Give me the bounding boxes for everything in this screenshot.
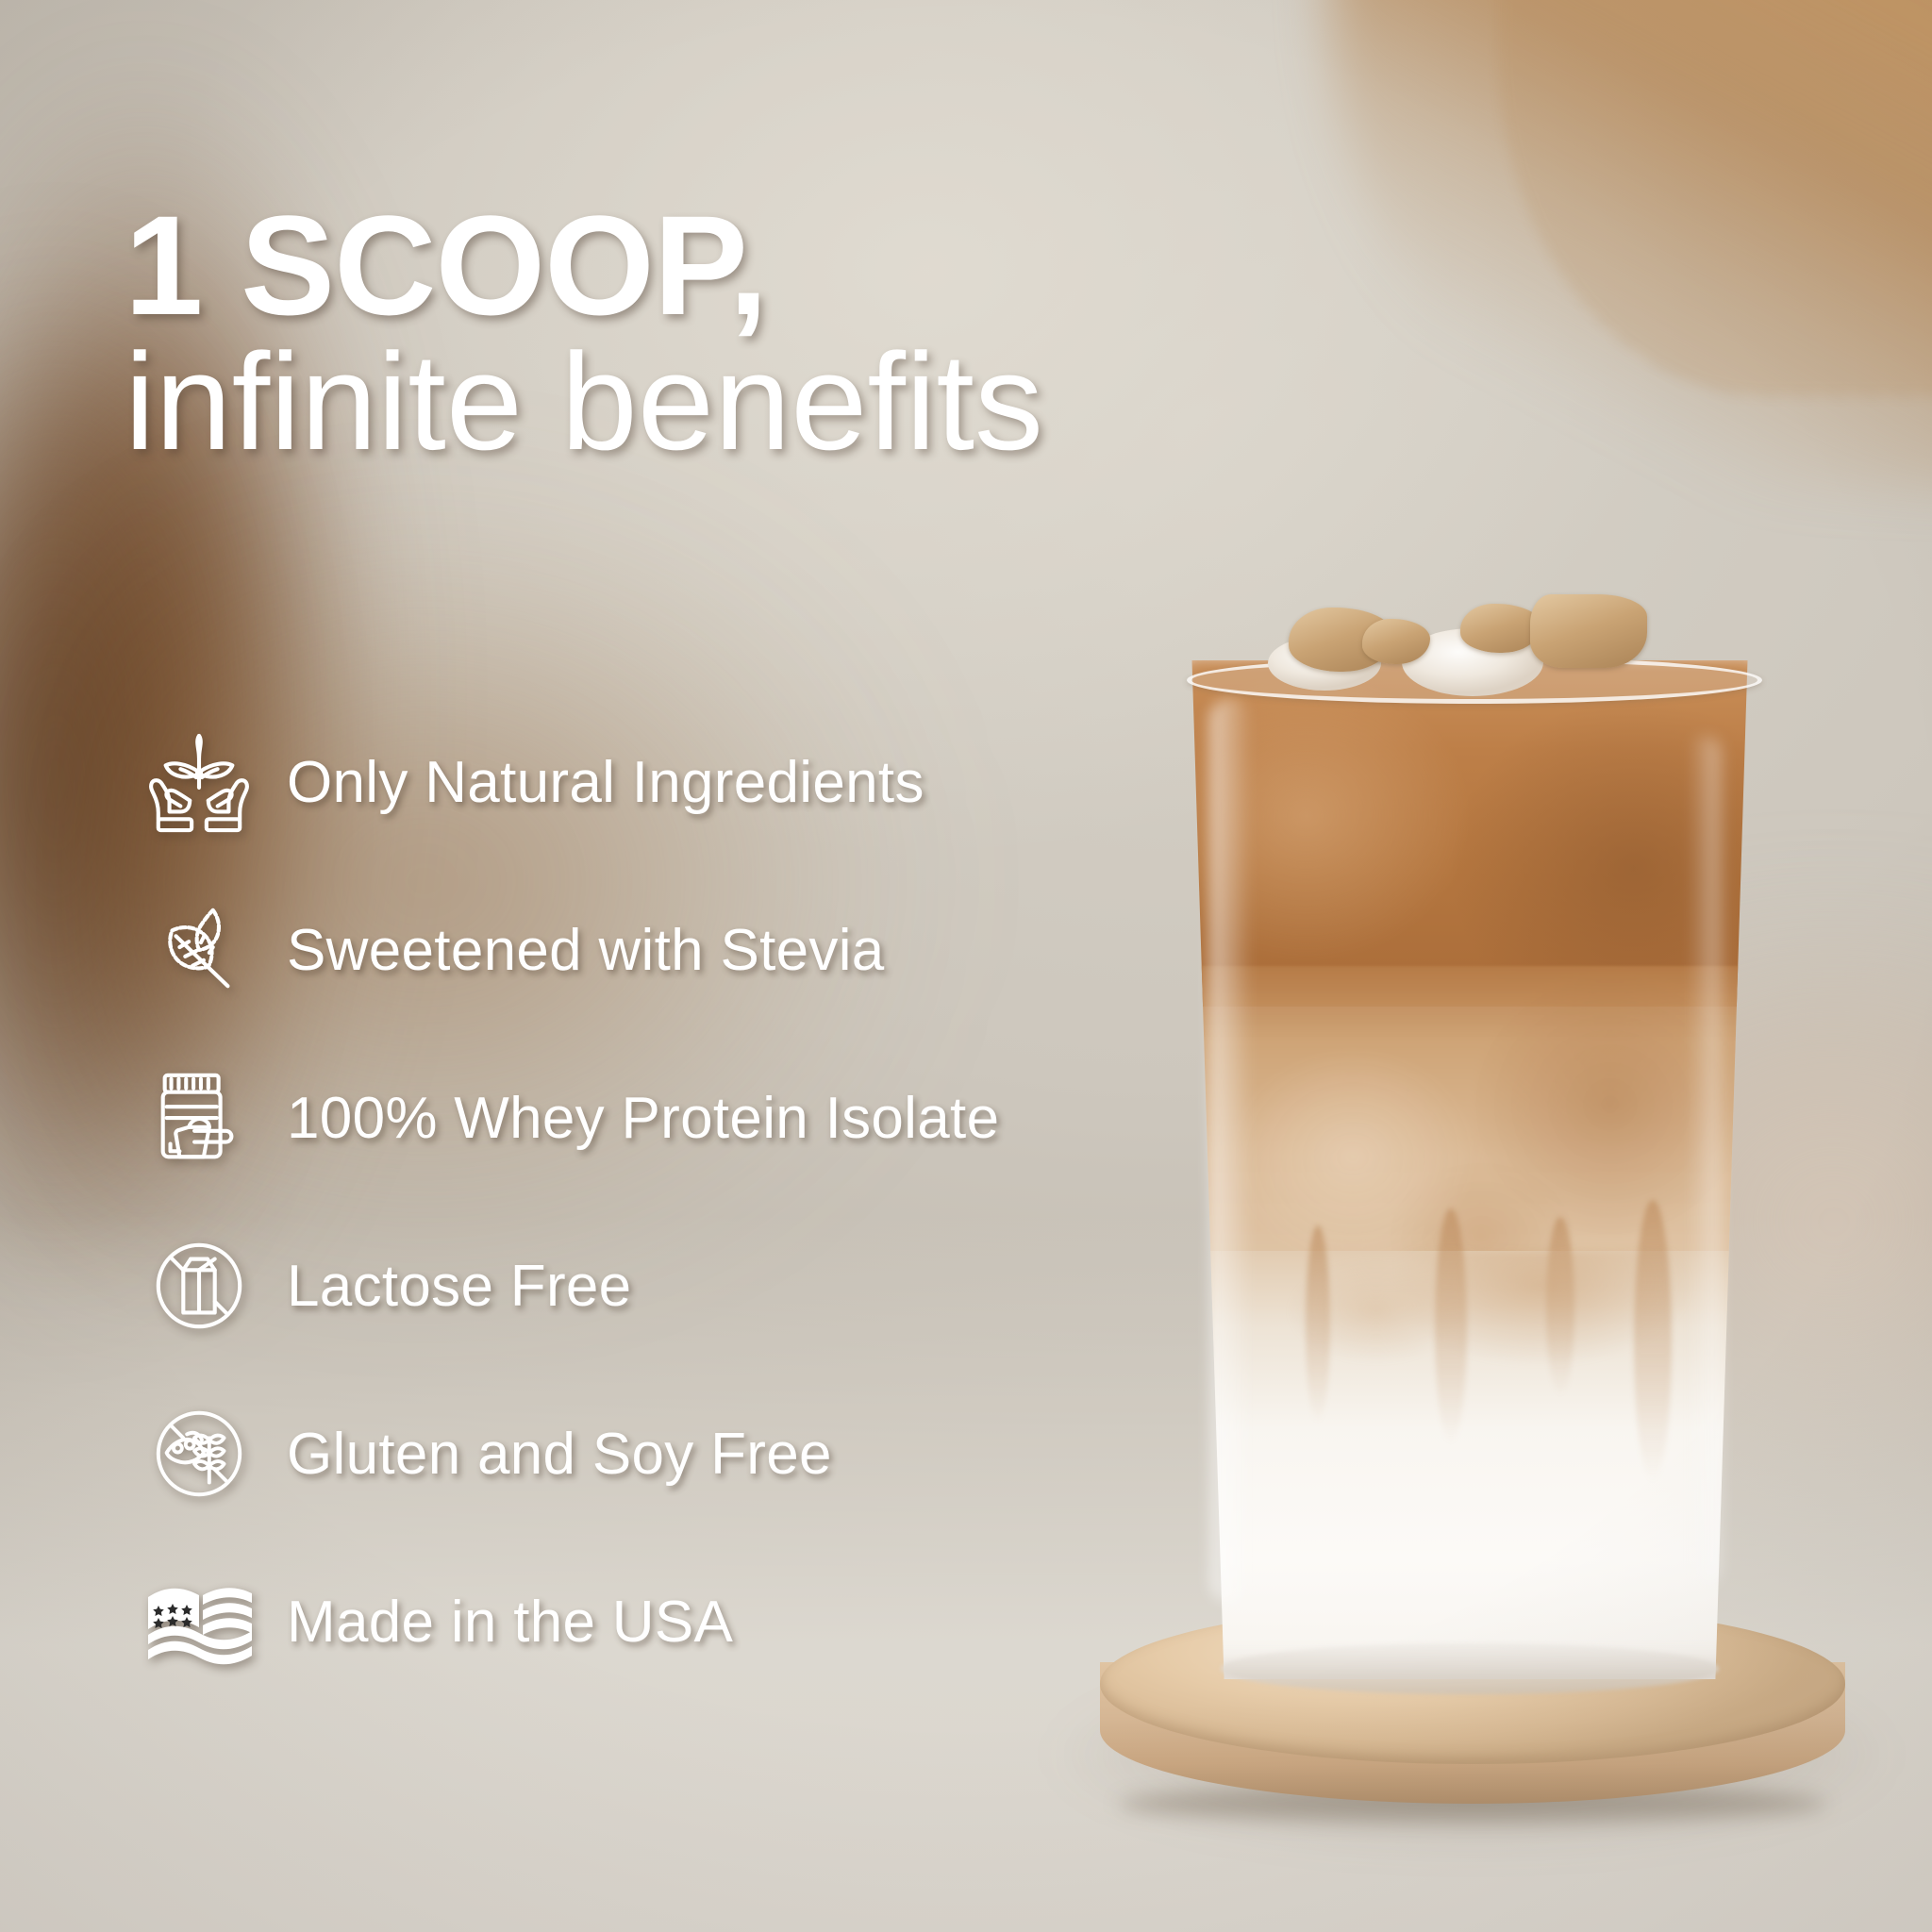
- headline: 1 SCOOP, infinite benefits: [125, 194, 1445, 474]
- benefit-item-made-in-usa: Made in the USA: [128, 1538, 1194, 1706]
- usa-flag-icon: [128, 1559, 270, 1684]
- product-benefits-poster: 1 SCOOP, infinite benefits: [0, 0, 1932, 1932]
- stevia-leaf-icon: [128, 888, 270, 1012]
- benefits-list: Only Natural Ingredients Sweetened with …: [128, 698, 1194, 1706]
- cookie-crumble: [1530, 594, 1647, 668]
- headline-line-1: 1 SCOOP,: [125, 194, 1445, 336]
- benefit-item-whey-isolate: 100% Whey Protein Isolate: [128, 1034, 1194, 1202]
- no-milk-carton-icon: [128, 1224, 270, 1348]
- drink-glass: [1177, 660, 1762, 1679]
- benefit-label: 100% Whey Protein Isolate: [287, 1085, 999, 1152]
- no-gluten-soy-icon: [128, 1391, 270, 1516]
- benefit-label: Lactose Free: [287, 1253, 631, 1320]
- benefit-label: Sweetened with Stevia: [287, 917, 885, 984]
- glass-base: [1221, 1643, 1719, 1694]
- hands-holding-plant-icon: [128, 720, 270, 844]
- benefit-item-natural-ingredients: Only Natural Ingredients: [128, 698, 1194, 866]
- glass-left-gloss: [1209, 698, 1253, 1604]
- benefit-item-gluten-soy-free: Gluten and Soy Free: [128, 1370, 1194, 1538]
- benefit-label: Only Natural Ingredients: [287, 749, 924, 816]
- benefit-item-stevia: Sweetened with Stevia: [128, 866, 1194, 1034]
- benefit-item-lactose-free: Lactose Free: [128, 1202, 1194, 1370]
- glass-right-gloss: [1689, 736, 1721, 1585]
- benefit-label: Made in the USA: [287, 1589, 733, 1656]
- headline-line-2: infinite benefits: [125, 330, 1445, 474]
- glass-edge-highlight: [1177, 660, 1762, 1679]
- benefit-label: Gluten and Soy Free: [287, 1421, 832, 1488]
- protein-tub-scoop-icon: [128, 1056, 270, 1180]
